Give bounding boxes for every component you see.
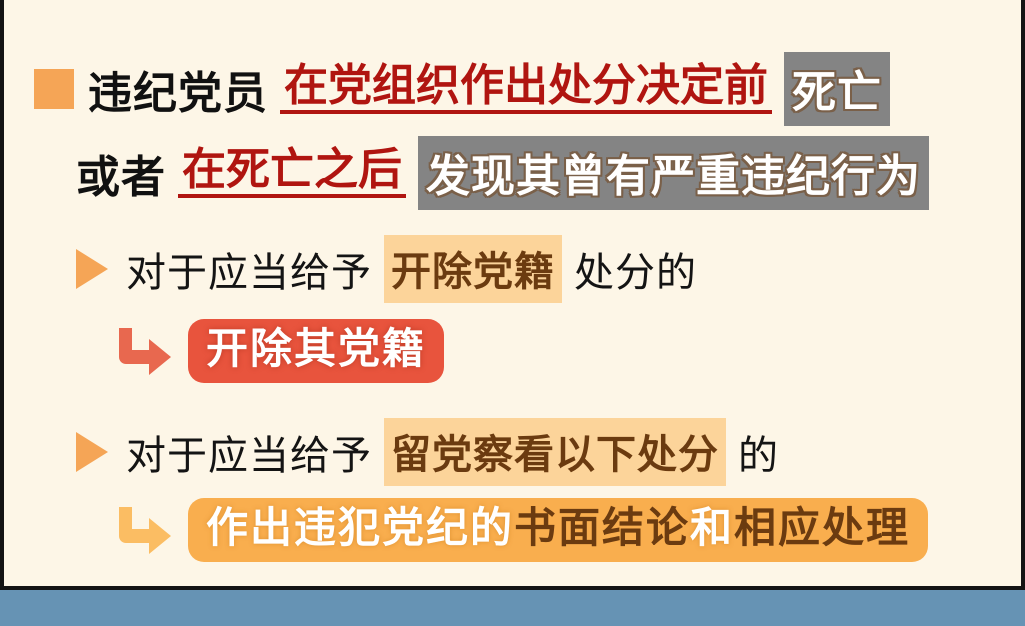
line2-gray-highlight-text: 发现其曾有严重违纪行为: [418, 136, 929, 210]
line3-plain-text-before: 对于应当给予: [126, 240, 372, 298]
content-line-4: 开除其党籍: [116, 320, 444, 382]
content-line-3: 对于应当给予 开除党籍 处分的: [76, 240, 697, 298]
slide-canvas: 违纪党员 在党组织作出处分决定前 死亡 或者 在死亡之后 发现其曾有严重违纪行为…: [0, 0, 1025, 590]
line3-amber-highlight-text: 开除党籍: [384, 235, 562, 303]
bottom-color-bar: [0, 590, 1025, 626]
line1-red-underlined-text: 在党组织作出处分决定前: [280, 64, 772, 114]
line5-amber-highlight-text: 留党察看以下处分: [384, 418, 726, 486]
line5-plain-text-before: 对于应当给予: [126, 423, 372, 481]
line6-segment-3: 和: [690, 503, 734, 552]
content-line-2: 或者 在死亡之后 发现其曾有严重违纪行为: [76, 142, 929, 204]
content-line-5: 对于应当给予 留党察看以下处分 的: [76, 423, 779, 481]
triangle-bullet-icon: [76, 249, 108, 289]
line1-plain-text: 违纪党员: [88, 57, 268, 121]
content-line-1: 违纪党员 在党组织作出处分决定前 死亡: [34, 58, 890, 120]
content-line-6: 作出违犯党纪的书面结论和相应处理: [116, 497, 928, 563]
slide: 违纪党员 在党组织作出处分决定前 死亡 或者 在死亡之后 发现其曾有严重违纪行为…: [0, 0, 1025, 626]
line2-red-underlined-text: 在死亡之后: [178, 148, 406, 198]
line6-segment-2: 书面结论: [514, 503, 690, 552]
triangle-bullet-icon: [76, 432, 108, 472]
hook-arrow-icon: [116, 505, 174, 555]
line3-plain-text-after: 处分的: [574, 240, 697, 298]
hook-arrow-icon: [116, 326, 174, 376]
line6-segment-1: 作出违犯党纪的: [206, 503, 514, 552]
line2-plain-text: 或者: [76, 141, 166, 205]
square-bullet-icon: [34, 69, 74, 109]
line6-segment-4: 相应处理: [734, 503, 910, 552]
line1-gray-highlight-text: 死亡: [784, 52, 890, 126]
line5-plain-text-after: 的: [738, 423, 779, 481]
line4-pill-badge: 开除其党籍: [188, 319, 444, 383]
line6-pill-badge: 作出违犯党纪的书面结论和相应处理: [188, 498, 928, 562]
